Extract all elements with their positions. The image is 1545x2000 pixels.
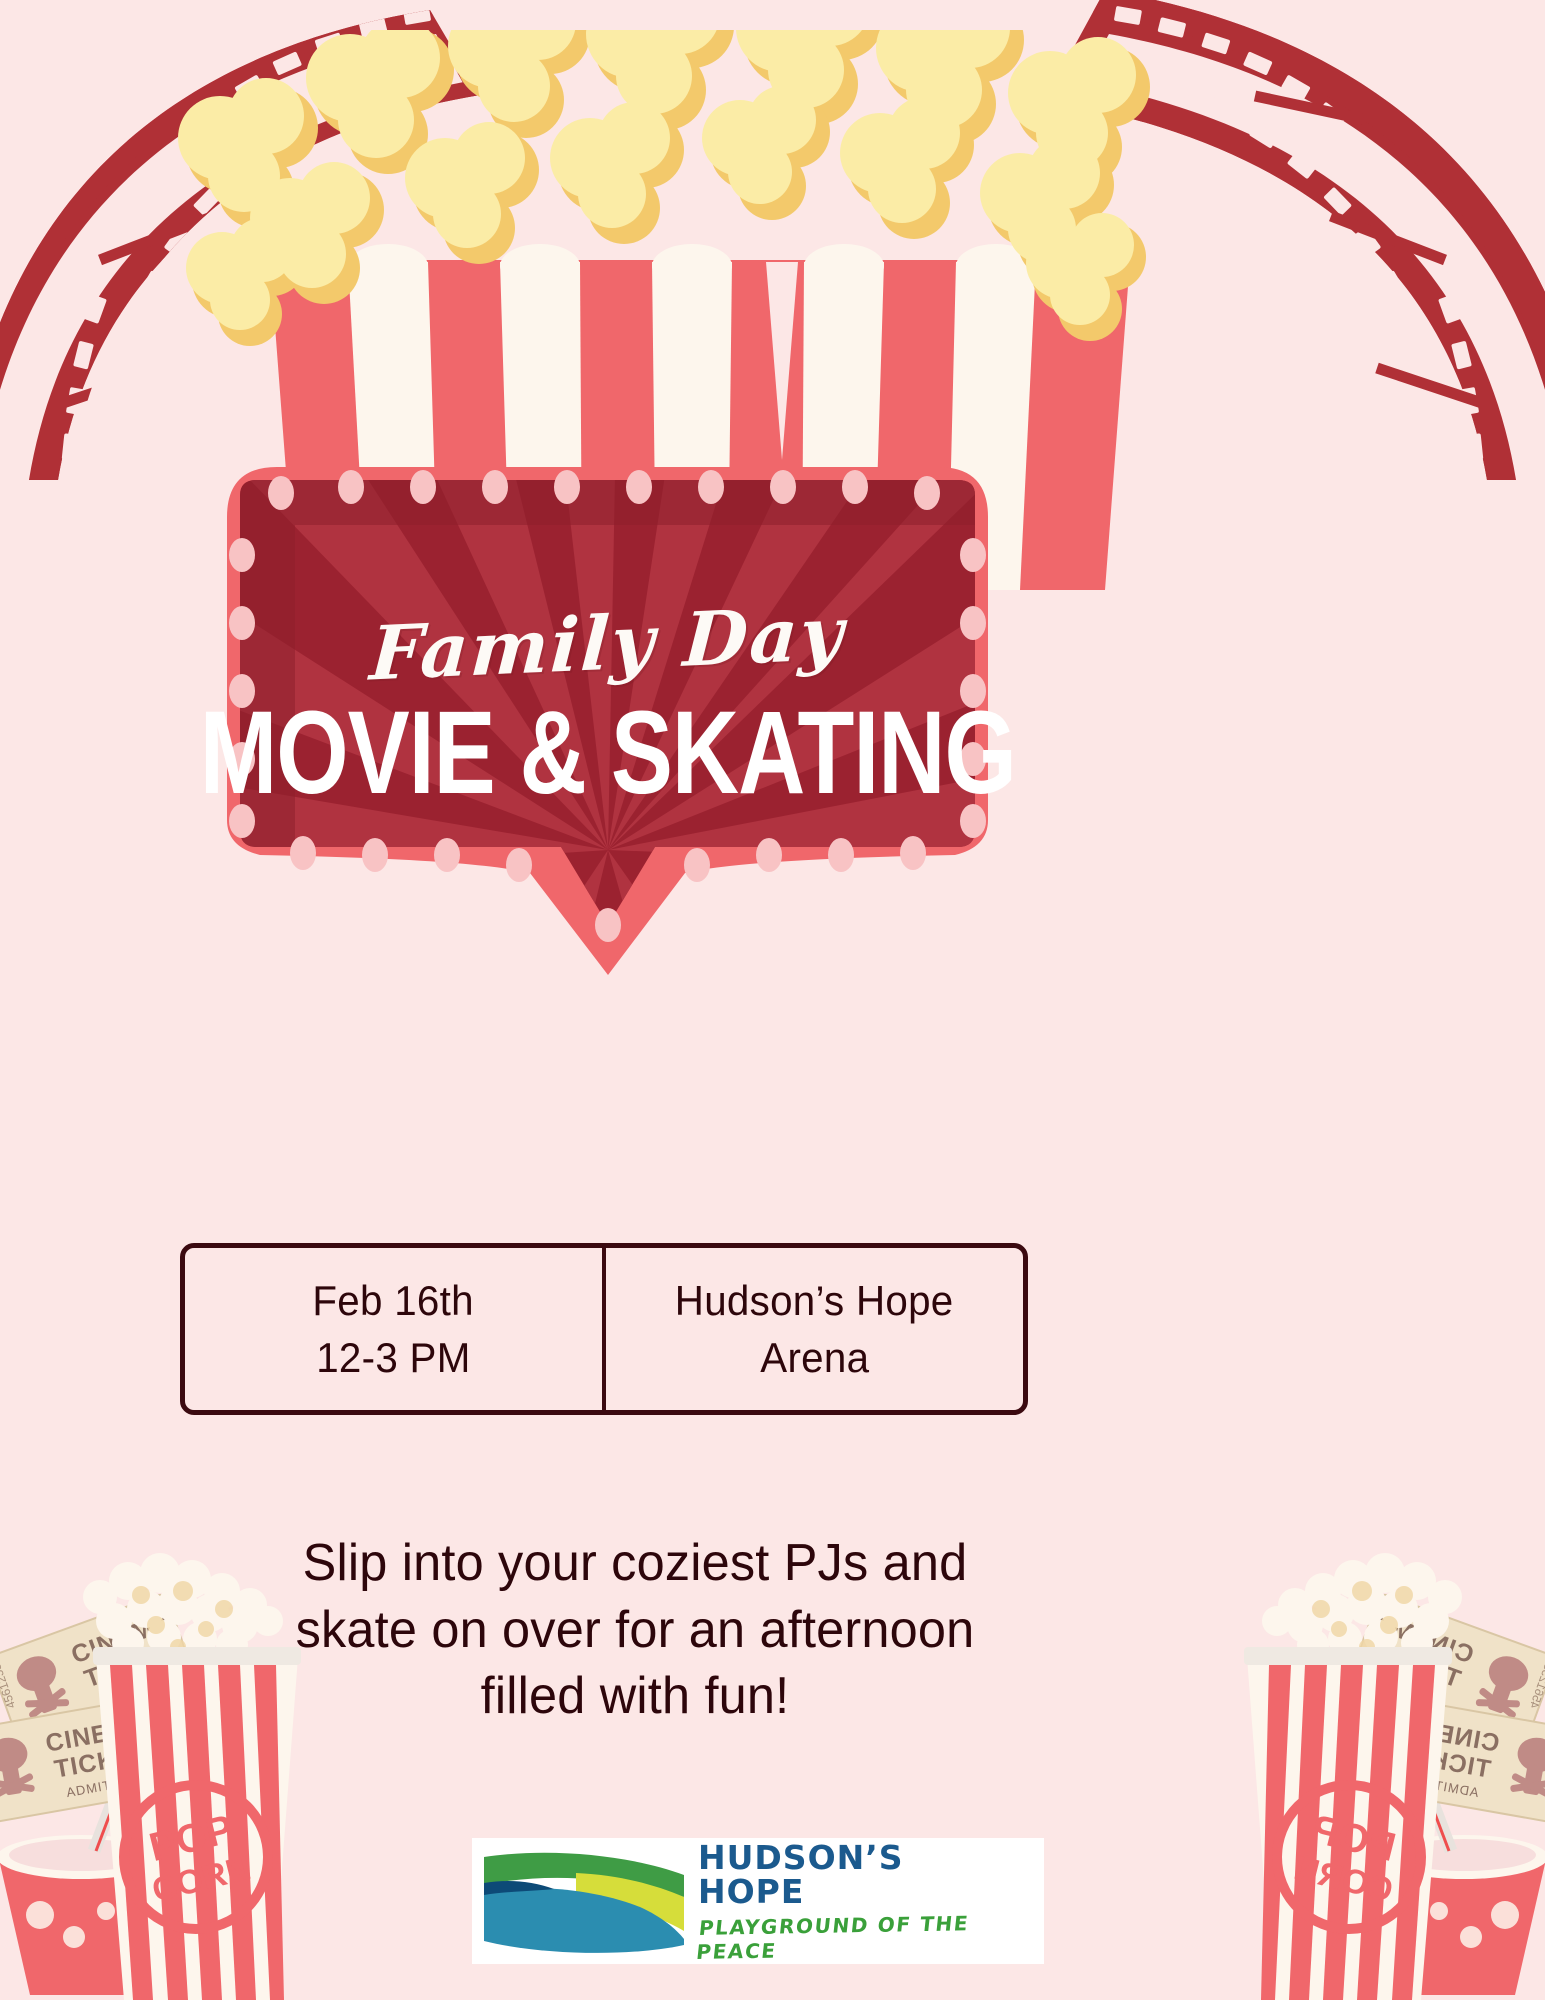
svg-text:POP: POP bbox=[145, 1807, 238, 1870]
description-line-2: skate on over for an afternoon bbox=[252, 1597, 1018, 1664]
svg-text:CORN: CORN bbox=[148, 1849, 254, 1910]
svg-text:45612389: 45612389 bbox=[1527, 1655, 1545, 1710]
svg-text:ADMIT ONE: ADMIT ONE bbox=[1398, 1771, 1480, 1800]
logo-name-line1: HUDSON’S bbox=[698, 1841, 1036, 1875]
description-line-1: Slip into your coziest PJs and bbox=[252, 1530, 1018, 1597]
event-date: Feb 16th bbox=[313, 1275, 474, 1326]
event-venue-line1: Hudson’s Hope bbox=[675, 1275, 954, 1326]
popcorn-box-corner-mirror: POP CORN bbox=[1244, 1553, 1462, 2000]
drink-cup-icon-mirror bbox=[1380, 1761, 1545, 1995]
hudsons-hope-logo: HUDSON’S HOPE PLAYGROUND OF THE PEACE bbox=[472, 1838, 1044, 1964]
svg-text:45612389: 45612389 bbox=[1390, 1702, 1413, 1757]
svg-text:TICKET: TICKET bbox=[81, 1634, 181, 1693]
svg-text:ADMIT ONE: ADMIT ONE bbox=[99, 1666, 180, 1708]
svg-text:CINEMA: CINEMA bbox=[43, 1712, 151, 1758]
svg-text:CORN: CORN bbox=[1290, 1849, 1396, 1910]
logo-text-group: HUDSON’S HOPE PLAYGROUND OF THE PEACE bbox=[698, 1841, 1036, 1961]
svg-text:CINEMA: CINEMA bbox=[1370, 1607, 1478, 1669]
svg-text:45612389: 45612389 bbox=[0, 1655, 18, 1710]
svg-text:CINEMA: CINEMA bbox=[68, 1607, 176, 1669]
marquee-text-group: Family Day MOVIE & SKATING bbox=[185, 455, 1030, 885]
event-description: Slip into your coziest PJs and skate on … bbox=[252, 1530, 1018, 1730]
cinema-ticket-2: CINEMA TICKET ADMIT ONE 45612389 bbox=[0, 1695, 176, 1824]
drink-cup-icon bbox=[0, 1761, 165, 1995]
svg-text:TICKET: TICKET bbox=[1393, 1739, 1493, 1783]
event-title-headline: MOVIE & SKATING bbox=[199, 694, 1015, 812]
event-details-box: Feb 16th 12-3 PM Hudson’s Hope Arena bbox=[180, 1243, 1028, 1415]
event-title-script: Family Day bbox=[368, 597, 847, 692]
popcorn-tickets-cup-svg-mirror: CINEMA TICKET ADMIT ONE 45612389 CINEMA … bbox=[1237, 1525, 1545, 2000]
svg-text:POP: POP bbox=[1307, 1807, 1400, 1870]
details-date-cell: Feb 16th 12-3 PM bbox=[185, 1248, 602, 1410]
description-line-3: filled with fun! bbox=[252, 1663, 1018, 1730]
svg-text:TICKET: TICKET bbox=[52, 1739, 152, 1783]
cinema-ticket-1-mirror: CINEMA TICKET ADMIT ONE 45612389 bbox=[1348, 1593, 1545, 1748]
hudsons-hope-swoosh-icon bbox=[480, 1845, 688, 1957]
marquee-sign: Family Day MOVIE & SKATING bbox=[185, 455, 1030, 995]
corner-art-bottom-right: CINEMA TICKET ADMIT ONE 45612389 CINEMA … bbox=[1237, 1525, 1545, 2000]
cinema-ticket-2-mirror: CINEMA TICKET ADMIT ONE 45612389 bbox=[1369, 1695, 1545, 1824]
svg-text:CINEMA: CINEMA bbox=[1394, 1712, 1502, 1758]
svg-text:45612389: 45612389 bbox=[132, 1702, 155, 1757]
logo-name-line2: HOPE bbox=[698, 1875, 1036, 1909]
svg-text:ADMIT ONE: ADMIT ONE bbox=[1365, 1666, 1446, 1708]
event-venue-line2: Arena bbox=[760, 1332, 869, 1383]
logo-tagline: PLAYGROUND OF THE PEACE bbox=[695, 1910, 1039, 1964]
event-time: 12-3 PM bbox=[316, 1332, 470, 1383]
svg-text:TICKET: TICKET bbox=[1364, 1634, 1464, 1693]
poster-canvas: Family Day MOVIE & SKATING Feb 16th 12-3… bbox=[0, 0, 1545, 2000]
cinema-ticket-1: CINEMA TICKET ADMIT ONE 45612389 bbox=[0, 1593, 197, 1748]
svg-text:ADMIT ONE: ADMIT ONE bbox=[65, 1771, 147, 1800]
details-location-cell: Hudson’s Hope Arena bbox=[606, 1248, 1023, 1410]
